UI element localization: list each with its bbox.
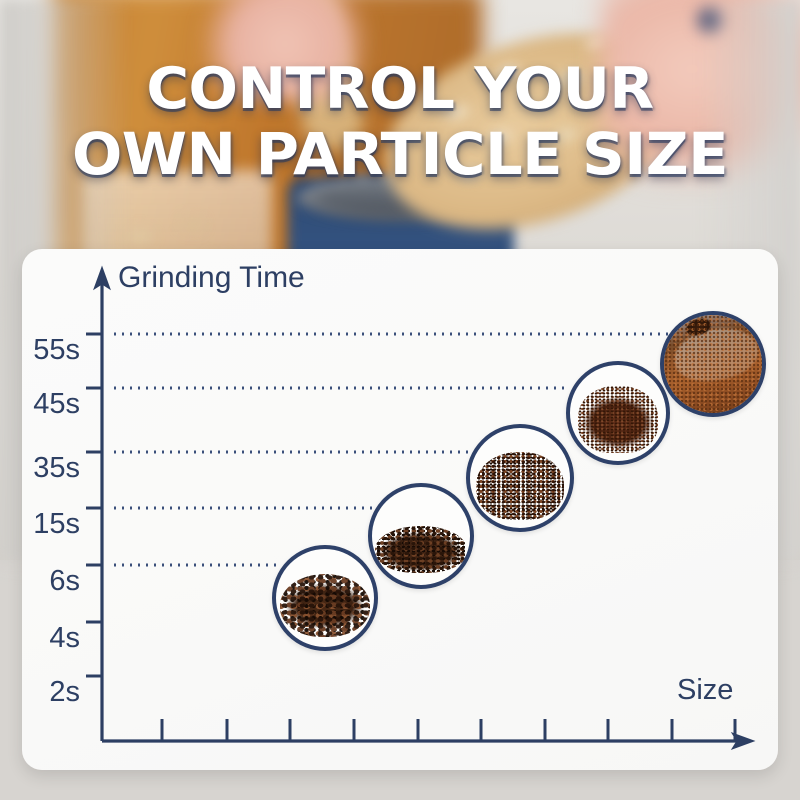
x-axis-ticks [162,719,735,741]
grind-texture [664,315,762,413]
headline: CONTROL YOUR OWN PARTICLE SIZE [0,62,800,183]
chart-plot-area: Grinding Time Size 55s 45s 35s 15s 6s 4s… [22,249,778,770]
y-axis-title: Grinding Time [118,261,305,295]
headline-line-2: OWN PARTICLE SIZE [0,126,800,183]
grind-texture [372,487,470,585]
grind-texture [570,365,666,461]
data-point-medium-coarse [368,483,474,589]
data-point-medium [466,424,574,532]
data-point-fine [566,361,670,465]
chart-card: Grinding Time Size 55s 45s 35s 15s 6s 4s… [22,249,778,770]
grind-texture [470,428,570,528]
grind-texture [276,549,374,647]
data-point-coarse [272,545,378,651]
headline-line-1: CONTROL YOUR [0,62,800,118]
y-axis [94,267,110,741]
y-axis-ticks [86,334,102,676]
x-axis [102,733,754,749]
data-point-extra-fine [660,311,766,417]
x-axis-title: Size [677,674,733,707]
